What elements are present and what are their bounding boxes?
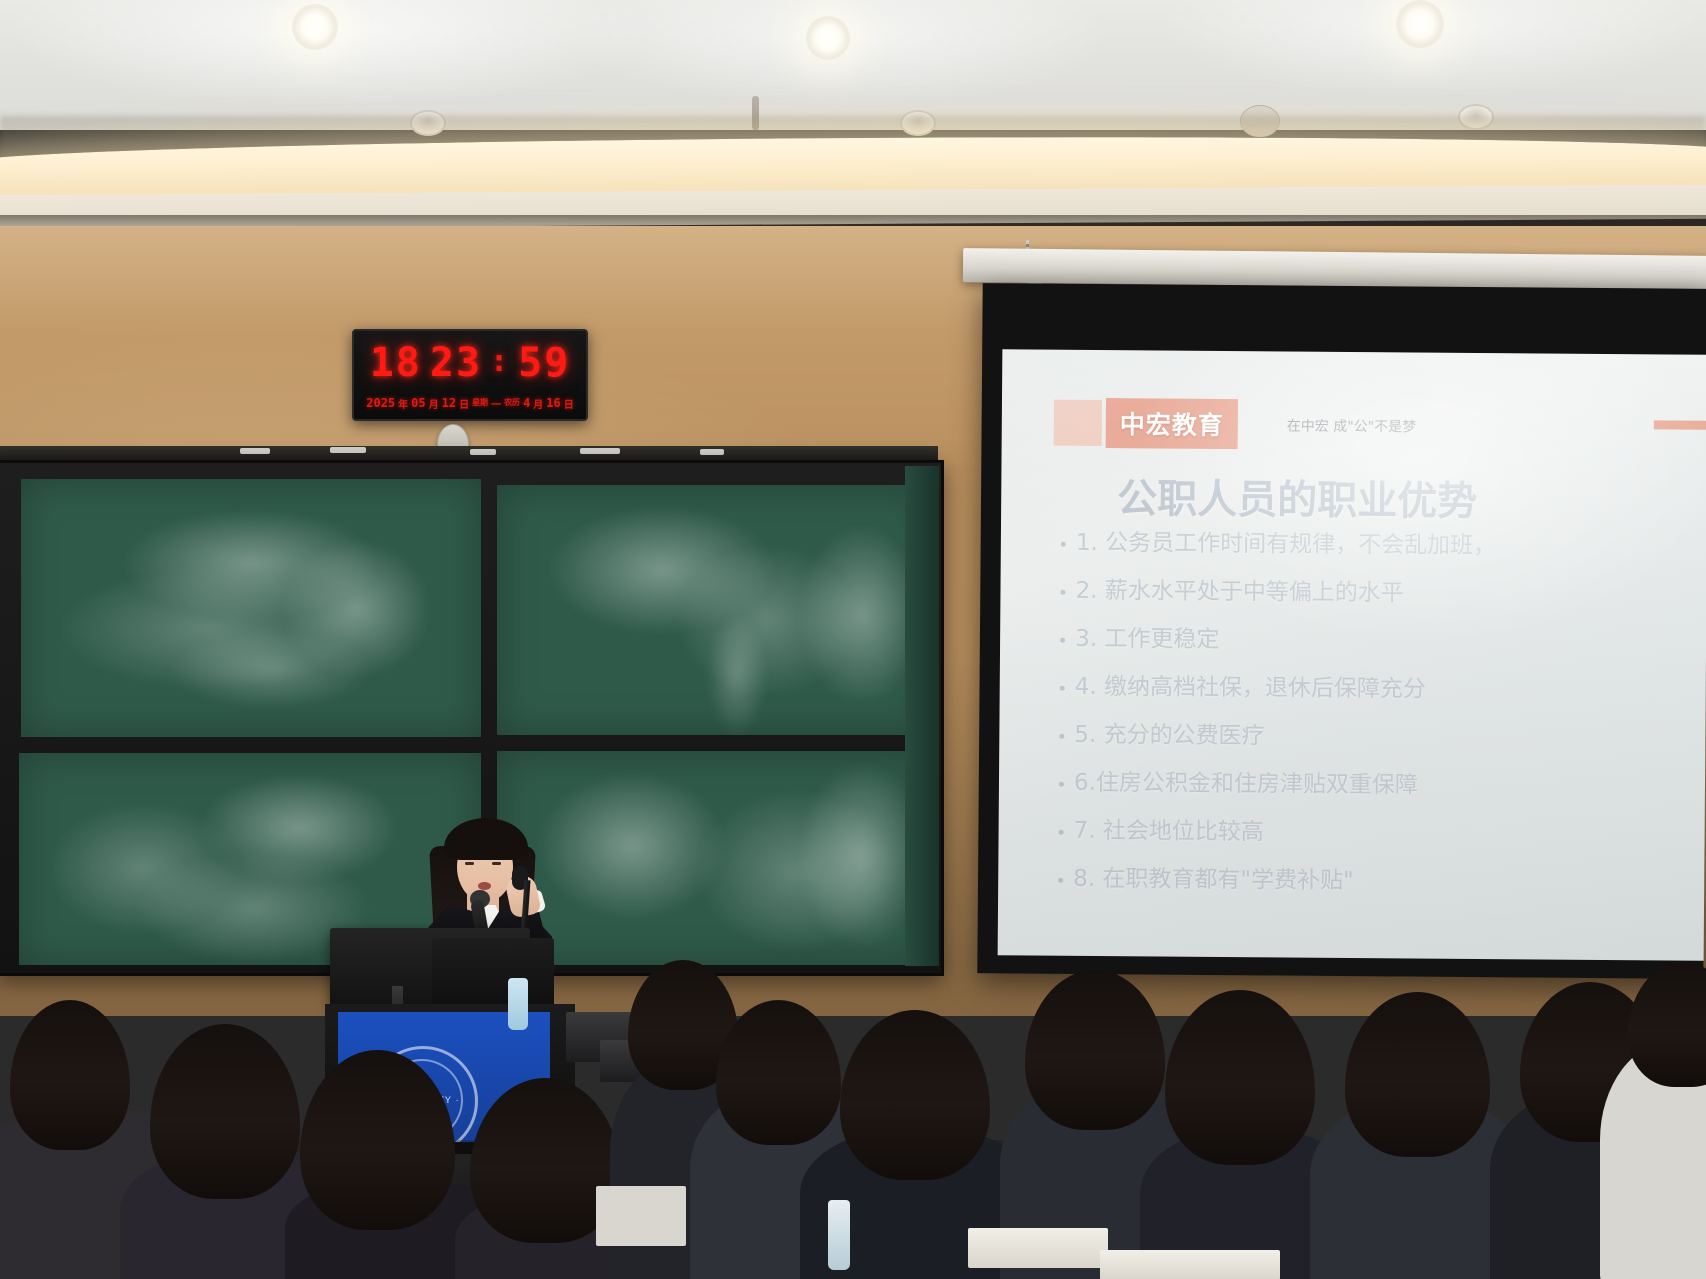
clock-lunar-month-unit: 月 (533, 396, 543, 411)
clock-lunar-month: 4 (523, 396, 530, 410)
clock-day-unit: 日 (459, 396, 469, 411)
blackboard-panel (497, 485, 927, 735)
bullet-dot-icon (1061, 542, 1066, 547)
bullet-text: 5. 充分的公费医疗 (1074, 724, 1264, 748)
bullet-item: 2. 薪水水平处于中等偏上的水平 (1060, 580, 1706, 608)
clock-hours: 18 (370, 340, 422, 386)
blackboard-panel (21, 479, 481, 737)
bullet-dot-icon (1059, 782, 1064, 787)
clock-minutes: 23 (430, 340, 482, 386)
clock-date-month: 05 (411, 396, 425, 410)
slide-tagline: 在中宏 成"公"不是梦 (1287, 415, 1416, 436)
chalk-piece (240, 448, 270, 454)
bullet-text: 6.住房公积金和住房津贴双重保障 (1074, 772, 1418, 798)
downlight-icon (806, 16, 850, 60)
bullet-dot-icon (1060, 638, 1065, 643)
audience-member-head (840, 1010, 990, 1180)
ceiling-light-sheen (0, 0, 1706, 130)
bullet-text: 2. 薪水水平处于中等偏上的水平 (1075, 580, 1403, 606)
header-accent-bar (1654, 420, 1706, 430)
clock-month-unit: 月 (429, 396, 439, 411)
clock-date-day: 12 (442, 396, 456, 410)
clock-seconds: 59 (518, 340, 570, 386)
downlight-icon (292, 4, 338, 50)
desk-surface (1100, 1250, 1280, 1279)
projection-screen: 中宏教育 在中宏 成"公"不是梦 公职人员的职业优势 1. 公务员工作时间有规律… (998, 349, 1706, 961)
speaker-mouth (478, 882, 491, 890)
chalk-piece (470, 449, 496, 455)
slide-header: 中宏教育 在中宏 成"公"不是梦 (1002, 389, 1706, 459)
chalk-piece (580, 448, 620, 454)
bullet-dot-icon (1059, 734, 1064, 739)
bullet-item: 3. 工作更稳定 (1060, 628, 1706, 656)
water-bottle (828, 1200, 850, 1270)
audience-member-head (1165, 990, 1315, 1165)
speaker-eye (492, 862, 501, 865)
bullet-item: 4. 缴纳高档社保，退休后保障充分 (1060, 676, 1706, 704)
logo-accent-block (1054, 400, 1102, 446)
audience-member-head (1345, 992, 1490, 1157)
downlight-icon (1396, 0, 1444, 48)
bullet-item: 1. 公务员工作时间有规律，不会乱加班， (1061, 532, 1706, 560)
bullet-item: 7. 社会地位比较高 (1059, 820, 1706, 848)
brand-logo: 中宏教育 (1106, 398, 1238, 449)
clock-year-unit: 年 (398, 396, 408, 411)
chalk-piece (700, 449, 724, 455)
bullet-text: 8. 在职教育都有"学费补贴" (1073, 868, 1354, 893)
clock-time-display: 18 23 : 59 (354, 336, 586, 390)
audience-member-head (150, 1024, 300, 1199)
bullet-text: 4. 缴纳高档社保，退休后保障充分 (1075, 676, 1426, 702)
bullet-item: 6.住房公积金和住房津贴双重保障 (1059, 772, 1706, 800)
bullet-item: 8. 在职教育都有"学费补贴" (1058, 868, 1706, 896)
blackboard-side-panel (905, 466, 939, 966)
laptop (596, 1186, 686, 1246)
bullet-dot-icon (1058, 878, 1063, 883)
bullet-text: 7. 社会地位比较高 (1074, 820, 1264, 844)
clock-lunar-day-unit: 日 (564, 396, 574, 411)
audience-member-head (10, 1000, 130, 1150)
bullet-dot-icon (1060, 590, 1065, 595)
bullet-dot-icon (1060, 686, 1065, 691)
desk-surface (968, 1228, 1108, 1268)
brand-logo-text: 中宏教育 (1120, 405, 1224, 442)
bullet-dot-icon (1059, 830, 1064, 835)
bullet-text: 3. 工作更稳定 (1075, 628, 1219, 652)
clock-weekday-value: 一 (491, 396, 501, 411)
clock-date-year: 2025 (366, 396, 395, 410)
clock-weekday-label: 星期 (472, 399, 488, 407)
clock-date-display: 2025 年 05 月 12 日 星期 一 农历 4 月 16 日 (354, 391, 586, 415)
clock-lunar-day: 16 (546, 396, 560, 410)
blackboard-panel (497, 751, 927, 965)
bullet-item: 5. 充分的公费医疗 (1059, 724, 1706, 752)
slide-title: 公职人员的职业优势 (1117, 466, 1706, 529)
lecture-hall-photo: 18 23 : 59 2025 年 05 月 12 日 星期 一 农历 4 月 … (0, 0, 1706, 1279)
clock-colon: : (490, 344, 510, 379)
chalk-piece (330, 447, 366, 453)
speaker-eye (465, 862, 474, 865)
bullet-text: 1. 公务员工作时间有规律，不会乱加班， (1076, 532, 1496, 558)
lectern-monitor-secondary (432, 938, 554, 1014)
led-wall-clock: 18 23 : 59 2025 年 05 月 12 日 星期 一 农历 4 月 … (352, 329, 588, 421)
slide-bullet-list: 1. 公务员工作时间有规律，不会乱加班， 2. 薪水水平处于中等偏上的水平 3.… (1058, 532, 1706, 921)
clock-lunar-label: 农历 (504, 399, 520, 407)
water-bottle (508, 978, 528, 1030)
